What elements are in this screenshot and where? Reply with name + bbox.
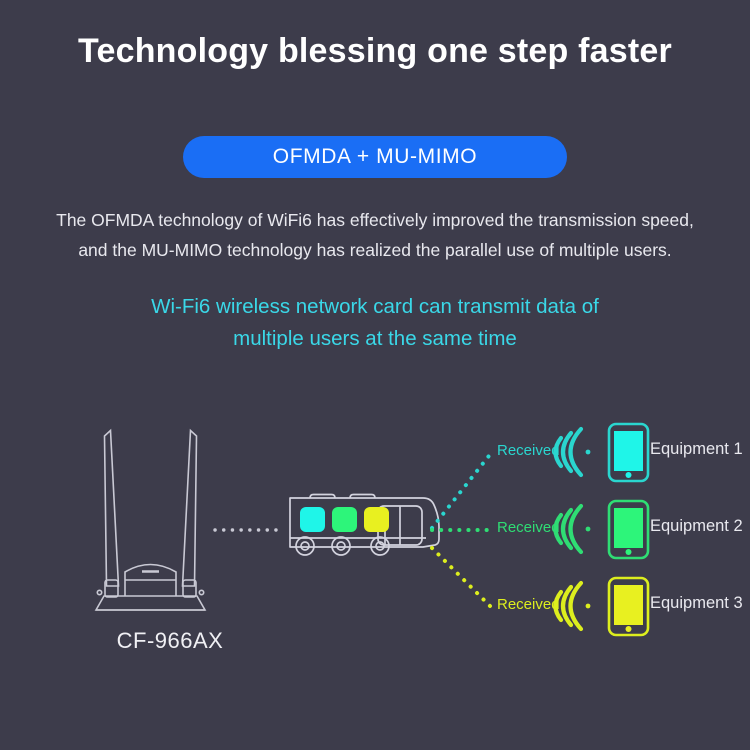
link-channel-1 (432, 452, 492, 528)
wifi-signal-icon-3 (556, 583, 591, 629)
received-label-2: Received (497, 519, 560, 536)
bus-window-3 (364, 507, 389, 532)
equipment-label-2: Equipment 2 (650, 517, 743, 536)
badge-label: OFMDA + MU-MIMO (273, 145, 477, 169)
bus-icon (290, 495, 439, 556)
description-line-1: The OFMDA technology of WiFi6 has effect… (56, 210, 694, 230)
description-paragraph: The OFMDA technology of WiFi6 has effect… (0, 205, 750, 265)
subtitle-line-2: multiple users at the same time (0, 323, 750, 355)
antenna-left (105, 431, 119, 587)
phone-home-button-1 (626, 472, 632, 478)
bus-window-2 (332, 507, 357, 532)
ofmda-mumimo-badge: OFMDA + MU-MIMO (183, 136, 567, 178)
bus-window-1 (300, 507, 325, 532)
phone-home-button-2 (626, 549, 632, 555)
received-label-3: Received (497, 596, 560, 613)
subtitle-line-1: Wi-Fi6 wireless network card can transmi… (151, 295, 599, 318)
router-icon (96, 431, 205, 611)
equipment-label-1: Equipment 1 (650, 440, 743, 459)
description-line-2: and the MU-MIMO technology has realized … (0, 235, 750, 265)
received-label-1: Received (497, 442, 560, 459)
phone-icon-3 (609, 578, 648, 635)
phone-screen-2 (614, 508, 643, 548)
wifi-signal-icon-2 (556, 506, 591, 552)
phone-icon-2 (609, 501, 648, 558)
subtitle: Wi-Fi6 wireless network card can transmi… (0, 291, 750, 355)
antenna-right (183, 431, 197, 587)
wifi-signal-icon-1 (556, 429, 591, 475)
phone-screen-1 (614, 431, 643, 471)
link-channel-3 (432, 548, 492, 608)
phone-home-button-3 (626, 626, 632, 632)
router-base-plate (96, 596, 205, 610)
wifi6-promo-page: Technology blessing one step faster OFMD… (0, 0, 750, 750)
phone-screen-3 (614, 585, 643, 625)
phone-icon-1 (609, 424, 648, 481)
device-model-label: CF-966AX (60, 628, 280, 654)
equipment-label-3: Equipment 3 (650, 594, 743, 613)
bus-wheels (296, 537, 389, 555)
page-title: Technology blessing one step faster (0, 32, 750, 71)
